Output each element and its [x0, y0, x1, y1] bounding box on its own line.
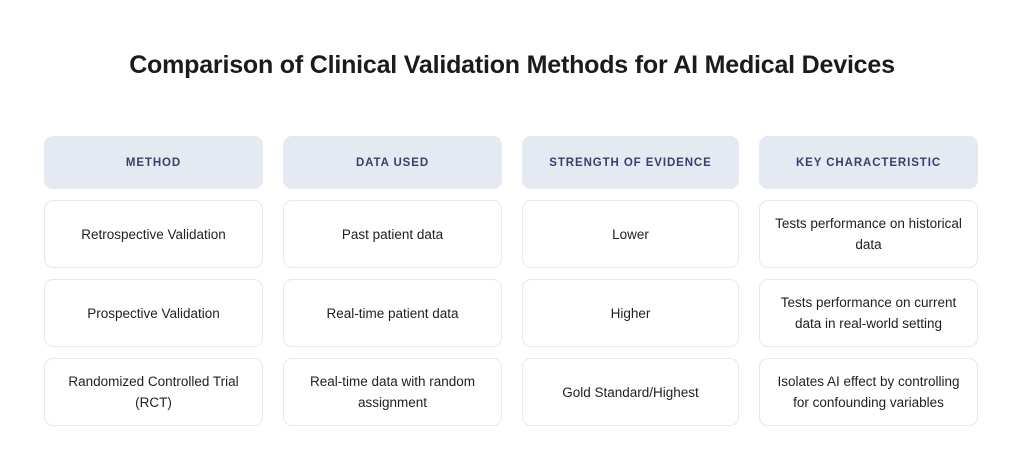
page-root: Comparison of Clinical Validation Method… [0, 0, 1024, 469]
cell-value: Past patient data [342, 224, 443, 245]
table-cell-strength-of-evidence: Lower [522, 200, 739, 268]
cell-value: Higher [611, 303, 651, 324]
column-header-label: STRENGTH OF EVIDENCE [549, 157, 711, 169]
cell-value: Tests performance on current data in rea… [774, 292, 963, 334]
table-cell-key-characteristic: Isolates AI effect by controlling for co… [759, 358, 978, 426]
cell-value: Real-time patient data [326, 303, 458, 324]
table-cell-data-used: Real-time data with random assignment [283, 358, 502, 426]
cell-value: Isolates AI effect by controlling for co… [774, 371, 963, 413]
comparison-table: METHOD DATA USED STRENGTH OF EVIDENCE KE… [44, 136, 980, 426]
cell-value: Real-time data with random assignment [298, 371, 487, 413]
cell-value: Gold Standard/Highest [562, 382, 699, 403]
column-header-key-characteristic: KEY CHARACTERISTIC [759, 136, 978, 189]
column-header-label: KEY CHARACTERISTIC [796, 157, 941, 169]
table-cell-data-used: Real-time patient data [283, 279, 502, 347]
column-header-label: DATA USED [356, 157, 429, 169]
cell-value: Tests performance on historical data [774, 213, 963, 255]
table-row: Retrospective Validation Past patient da… [44, 200, 980, 268]
column-header-strength-of-evidence: STRENGTH OF EVIDENCE [522, 136, 739, 189]
table-header-row: METHOD DATA USED STRENGTH OF EVIDENCE KE… [44, 136, 980, 189]
column-header-method: METHOD [44, 136, 263, 189]
cell-value: Randomized Controlled Trial (RCT) [59, 371, 248, 413]
cell-value: Lower [612, 224, 649, 245]
table-cell-strength-of-evidence: Higher [522, 279, 739, 347]
column-header-label: METHOD [126, 157, 181, 169]
table-row: Prospective Validation Real-time patient… [44, 279, 980, 347]
table-cell-key-characteristic: Tests performance on current data in rea… [759, 279, 978, 347]
table-cell-data-used: Past patient data [283, 200, 502, 268]
cell-value: Retrospective Validation [81, 224, 226, 245]
table-cell-key-characteristic: Tests performance on historical data [759, 200, 978, 268]
table-cell-strength-of-evidence: Gold Standard/Highest [522, 358, 739, 426]
table-cell-method: Randomized Controlled Trial (RCT) [44, 358, 263, 426]
cell-value: Prospective Validation [87, 303, 220, 324]
page-title: Comparison of Clinical Validation Method… [0, 48, 1024, 82]
table-cell-method: Prospective Validation [44, 279, 263, 347]
table-row: Randomized Controlled Trial (RCT) Real-t… [44, 358, 980, 426]
column-header-data-used: DATA USED [283, 136, 502, 189]
table-cell-method: Retrospective Validation [44, 200, 263, 268]
